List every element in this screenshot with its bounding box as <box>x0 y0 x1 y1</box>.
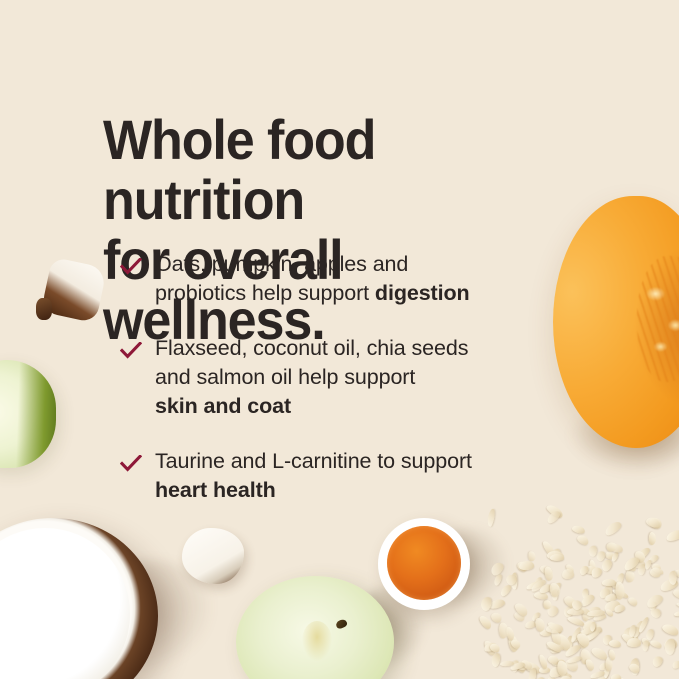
benefit-text: Oats, pumpkin, apples andprobiotics help… <box>155 252 470 305</box>
benefit-text: Taurine and L-carnitine to supportheart … <box>155 449 472 502</box>
list-item: Taurine and L-carnitine to supportheart … <box>120 447 590 505</box>
list-item: Flaxseed, coconut oil, chia seedsand sal… <box>120 334 590 421</box>
check-icon <box>120 339 142 357</box>
benefit-text: Flaxseed, coconut oil, chia seedsand sal… <box>155 336 468 418</box>
benefits-list: Oats, pumpkin, apples andprobiotics help… <box>120 250 590 505</box>
check-icon <box>120 452 142 470</box>
check-icon <box>120 255 142 273</box>
list-item: Oats, pumpkin, apples andprobiotics help… <box>120 250 590 308</box>
promo-image: Whole food nutrition for overall wellnes… <box>0 0 679 679</box>
